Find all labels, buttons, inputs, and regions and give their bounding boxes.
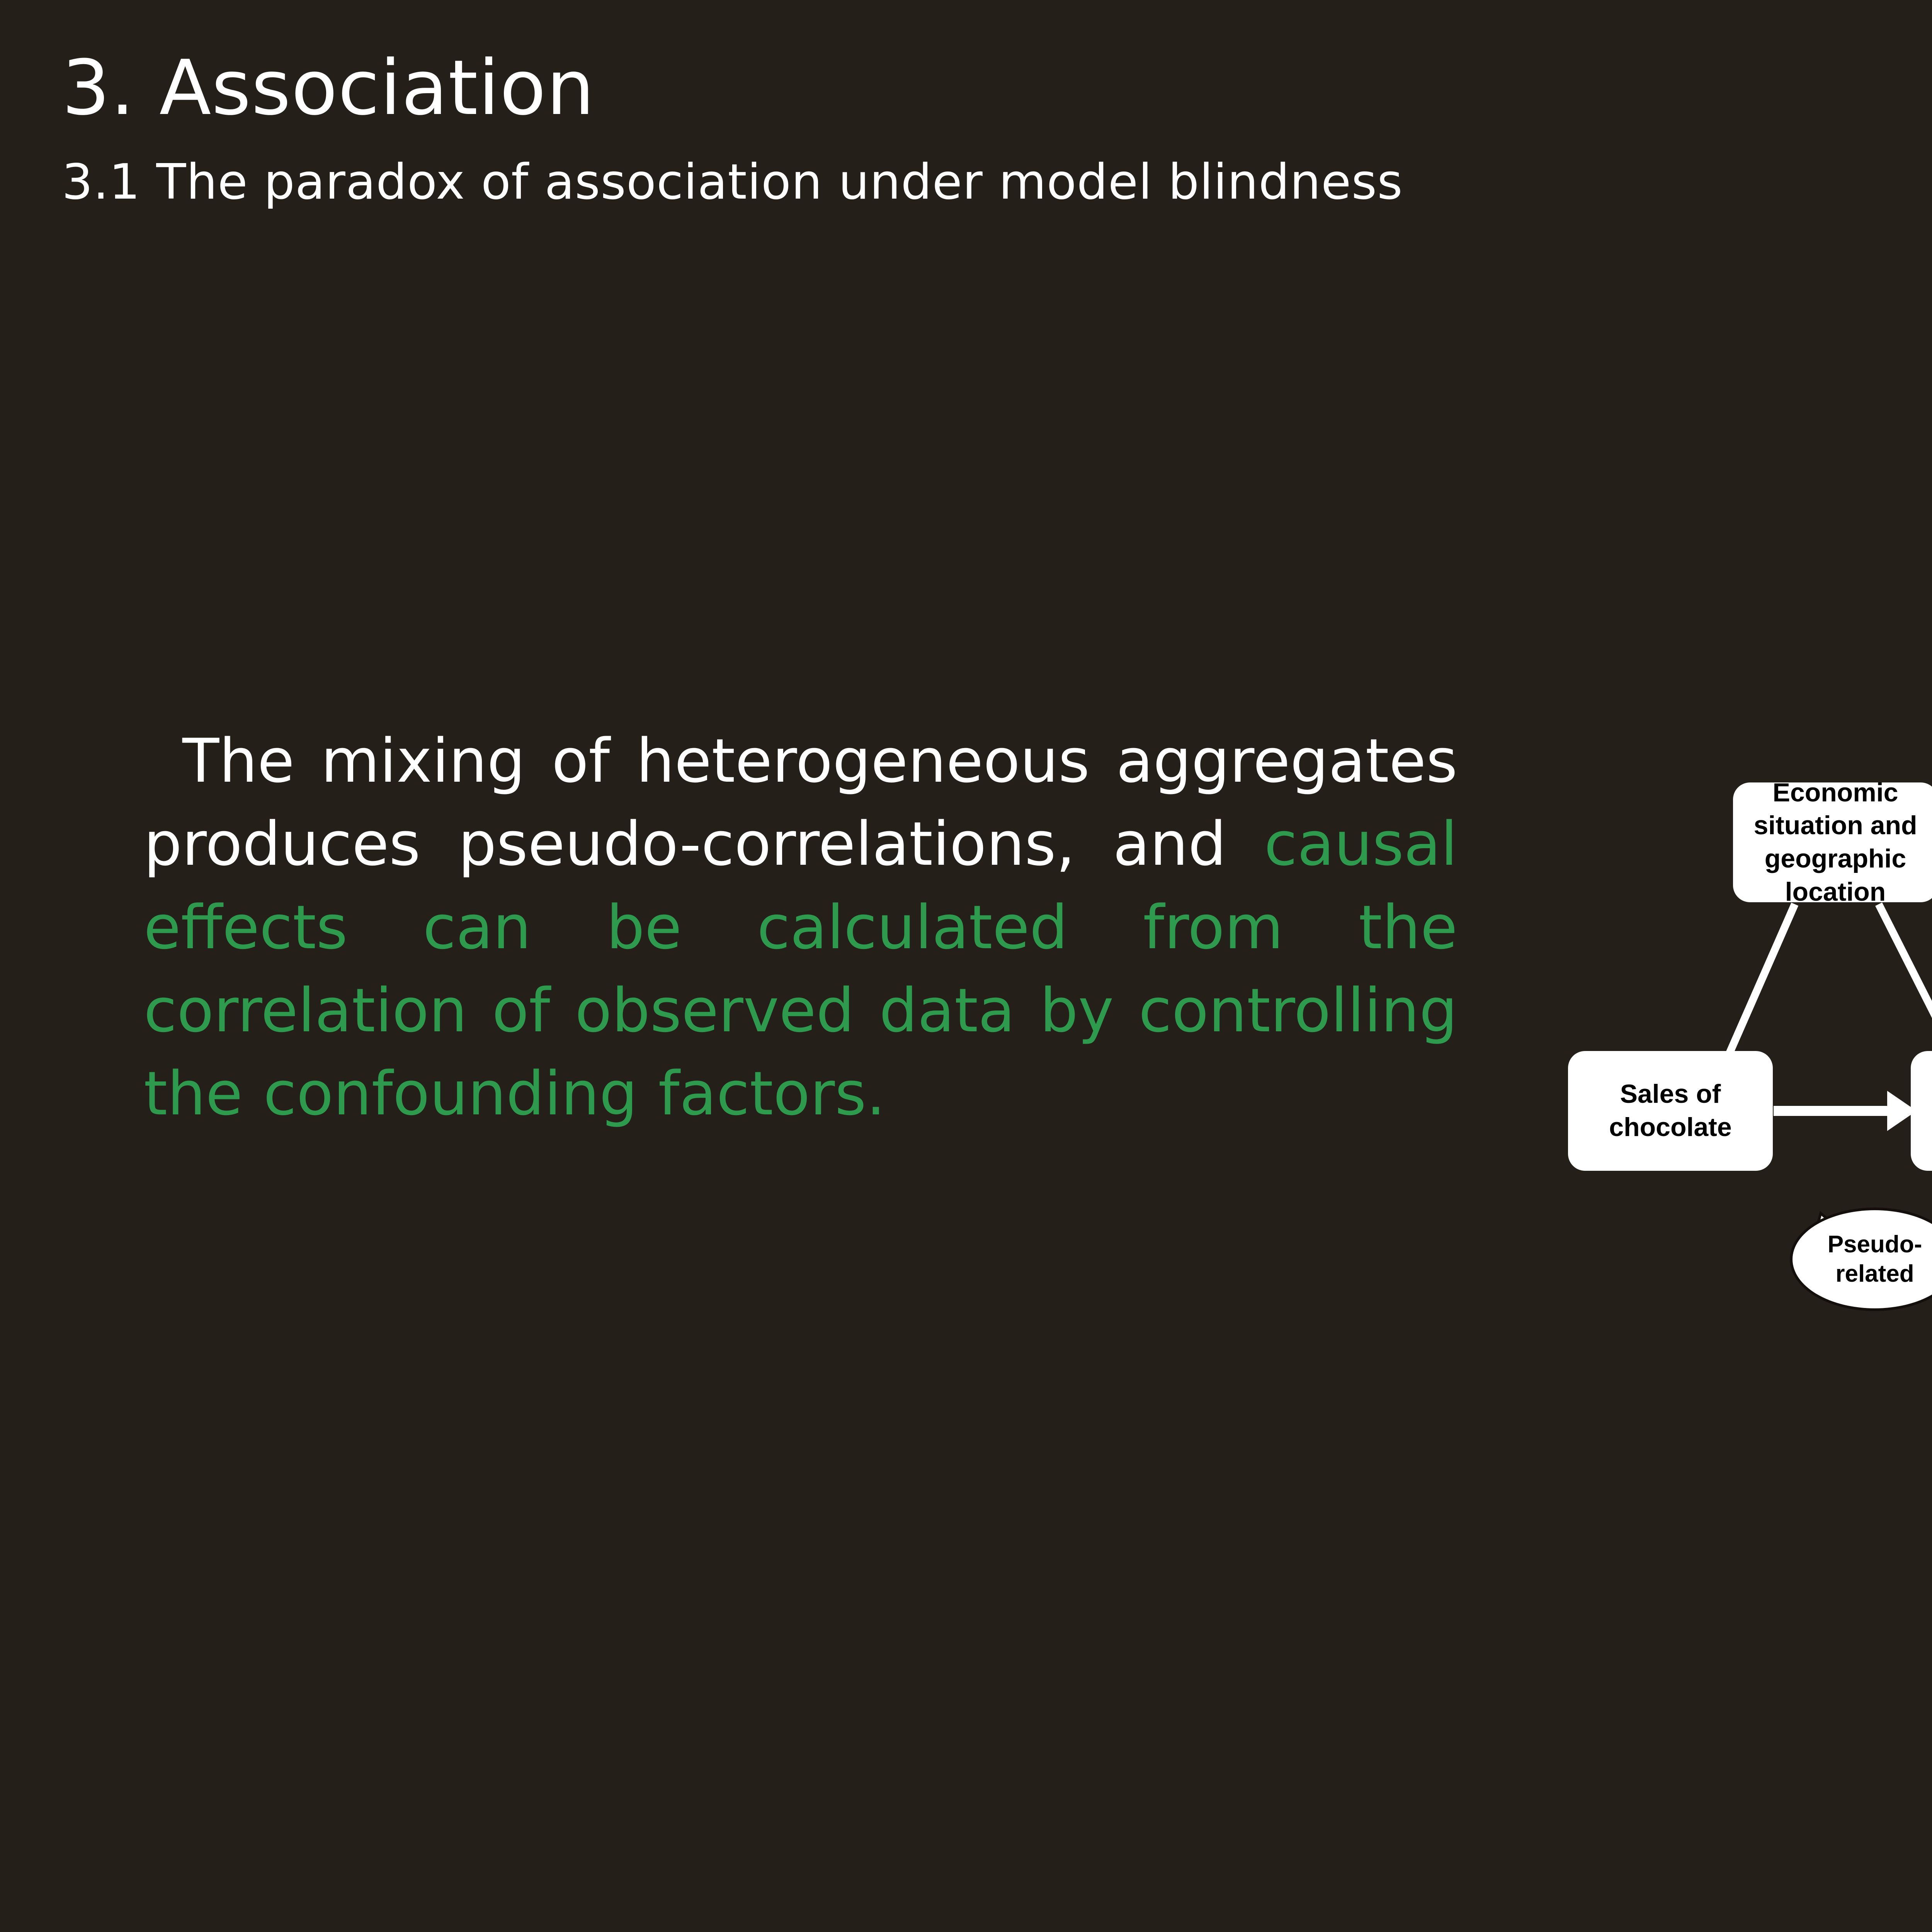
header: 3. Association 3.1 The paradox of associ…: [62, 50, 1932, 206]
body-plain-text: The mixing of heterogeneous aggregates p…: [144, 726, 1458, 879]
page-subtitle: 3.1 The paradox of association under mod…: [62, 158, 1932, 206]
node-sales-of-chocolate[interactable]: Sales of chocolate: [1568, 1051, 1773, 1171]
slide-canvas: 3. Association 3.1 The paradox of associ…: [0, 0, 1932, 1932]
node-economic-situation[interactable]: Economic situation and geographic locati…: [1733, 782, 1932, 902]
body-paragraph: The mixing of heterogeneous aggregates p…: [144, 719, 1458, 1135]
page-title: 3. Association: [62, 50, 1932, 126]
node-nobel-prize-winners[interactable]: Number of Nobel Prize winners: [1911, 1051, 1932, 1171]
causal-diagram: Economic situation and geographic locati…: [1546, 696, 1932, 1372]
